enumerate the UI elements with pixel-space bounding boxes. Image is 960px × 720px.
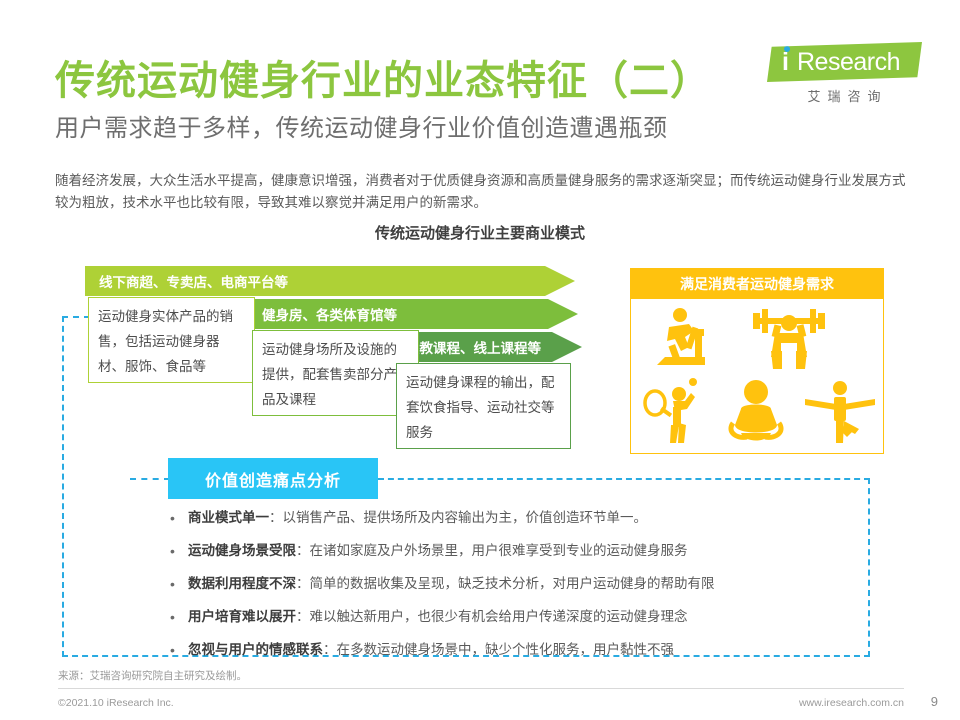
bullet-rest: ：难以触达新用户，也很少有机会给用户传递深度的运动健身理念 xyxy=(296,609,688,624)
page-title: 传统运动健身行业的业态特征（二） xyxy=(55,48,711,106)
bullet-strong: 数据利用程度不深 xyxy=(188,576,296,591)
dashed-connector-right-edge xyxy=(868,478,870,657)
arrow-label-3: 私教课程、线上课程等 xyxy=(406,337,541,357)
intro-paragraph: 随着经济发展，大众生活水平提高，健康意识增强，消费者对于优质健身资源和高质量健身… xyxy=(55,170,913,214)
yoga-tree-pose-icon xyxy=(803,377,877,445)
page-subtitle: 用户需求趋于多样，传统运动健身行业价值创造遭遇瓶颈 xyxy=(55,108,668,143)
description-box-2: 运动健身场所及设施的提供，配套售卖部分产品及课程 xyxy=(252,330,419,416)
business-model-arrow-3: 私教课程、线上课程等 xyxy=(392,332,582,362)
list-item: • 忽视与用户的情感联系：在多数运动健身场景中，缺少个性化服务，用户黏性不强 xyxy=(170,640,860,660)
source-note: 来源：艾瑞咨询研究院自主研究及绘制。 xyxy=(58,668,247,683)
logo-dot-icon xyxy=(784,46,790,52)
business-model-arrow-1: 线下商超、专卖店、电商平台等 xyxy=(85,266,575,296)
tennis-icon xyxy=(643,377,713,445)
list-item: • 用户培育难以展开：难以触达新用户，也很少有机会给用户传递深度的运动健身理念 xyxy=(170,607,860,627)
demand-panel-icons xyxy=(631,299,883,453)
pain-point-header: 价值创造痛点分析 xyxy=(168,458,378,499)
bullet-strong: 运动健身场景受限 xyxy=(188,543,296,558)
bullet-strong: 用户培育难以展开 xyxy=(188,609,296,624)
description-box-1: 运动健身实体产品的销售，包括运动健身器材、服饰、食品等 xyxy=(88,297,255,383)
bullet-rest: ：以销售产品、提供场所及内容输出为主，价值创造环节单一。 xyxy=(269,510,647,525)
footer-divider xyxy=(58,688,904,689)
bullet-marker-icon: • xyxy=(170,640,188,660)
pain-point-list: • 商业模式单一：以销售产品、提供场所及内容输出为主，价值创造环节单一。 • 运… xyxy=(170,508,860,673)
website-url: www.iresearch.com.cn xyxy=(799,697,904,709)
logo-letter-i: i xyxy=(782,50,789,75)
list-item: • 数据利用程度不深：简单的数据收集及呈现，缺乏技术分析，对用户运动健身的帮助有… xyxy=(170,574,860,594)
bullet-strong: 商业模式单一 xyxy=(188,510,269,525)
bullet-text: 用户培育难以展开：难以触达新用户，也很少有机会给用户传递深度的运动健身理念 xyxy=(188,607,688,627)
copyright-text: ©2021.10 iResearch Inc. xyxy=(58,697,174,709)
bullet-text: 商业模式单一：以销售产品、提供场所及内容输出为主，价值创造环节单一。 xyxy=(188,508,647,528)
slide-root: 传统运动健身行业的业态特征（二） 用户需求趋于多样，传统运动健身行业价值创造遭遇… xyxy=(0,0,960,720)
weightlifting-icon xyxy=(749,307,829,373)
arrow-label-2: 健身房、各类体育馆等 xyxy=(262,304,397,324)
description-box-3: 运动健身课程的输出，配套饮食指导、运动社交等服务 xyxy=(396,363,571,449)
dashed-connector-right xyxy=(378,478,870,480)
logo-wordmark: Research xyxy=(797,49,900,76)
bullet-text: 数据利用程度不深：简单的数据收集及呈现，缺乏技术分析，对用户运动健身的帮助有限 xyxy=(188,574,715,594)
dashed-connector-left-inner xyxy=(130,478,170,480)
demand-panel-title: 满足消费者运动健身需求 xyxy=(631,269,883,299)
bullet-text: 运动健身场景受限：在诸如家庭及户外场景里，用户很难享受到专业的运动健身服务 xyxy=(188,541,688,561)
arrow-label-1: 线下商超、专卖店、电商平台等 xyxy=(99,271,288,291)
list-item: • 运动健身场景受限：在诸如家庭及户外场景里，用户很难享受到专业的运动健身服务 xyxy=(170,541,860,561)
bullet-rest: ：简单的数据收集及呈现，缺乏技术分析，对用户运动健身的帮助有限 xyxy=(296,576,715,591)
bullet-marker-icon: • xyxy=(170,574,188,594)
bullet-rest: ：在诸如家庭及户外场景里，用户很难享受到专业的运动健身服务 xyxy=(296,543,688,558)
dashed-connector-top xyxy=(62,316,90,318)
list-item: • 商业模式单一：以销售产品、提供场所及内容输出为主，价值创造环节单一。 xyxy=(170,508,860,528)
bullet-text: 忽视与用户的情感联系：在多数运动健身场景中，缺少个性化服务，用户黏性不强 xyxy=(188,640,674,660)
logo-chinese-name: 艾瑞咨询 xyxy=(767,86,922,105)
business-model-arrow-2: 健身房、各类体育馆等 xyxy=(248,299,578,329)
page-number: 9 xyxy=(931,694,938,709)
logo-parallelogram: i Research xyxy=(767,42,922,82)
bullet-marker-icon: • xyxy=(170,607,188,627)
iresearch-logo: i Research 艾瑞咨询 xyxy=(767,42,922,104)
bullet-strong: 忽视与用户的情感联系 xyxy=(188,642,323,657)
consumer-demand-panel: 满足消费者运动健身需求 xyxy=(630,268,884,454)
bullet-rest: ：在多数运动健身场景中，缺少个性化服务，用户黏性不强 xyxy=(323,642,674,657)
bullet-marker-icon: • xyxy=(170,541,188,561)
yoga-meditation-icon xyxy=(719,377,793,445)
treadmill-running-icon xyxy=(649,307,723,373)
bullet-marker-icon: • xyxy=(170,508,188,528)
figure-title: 传统运动健身行业主要商业模式 xyxy=(0,222,960,243)
